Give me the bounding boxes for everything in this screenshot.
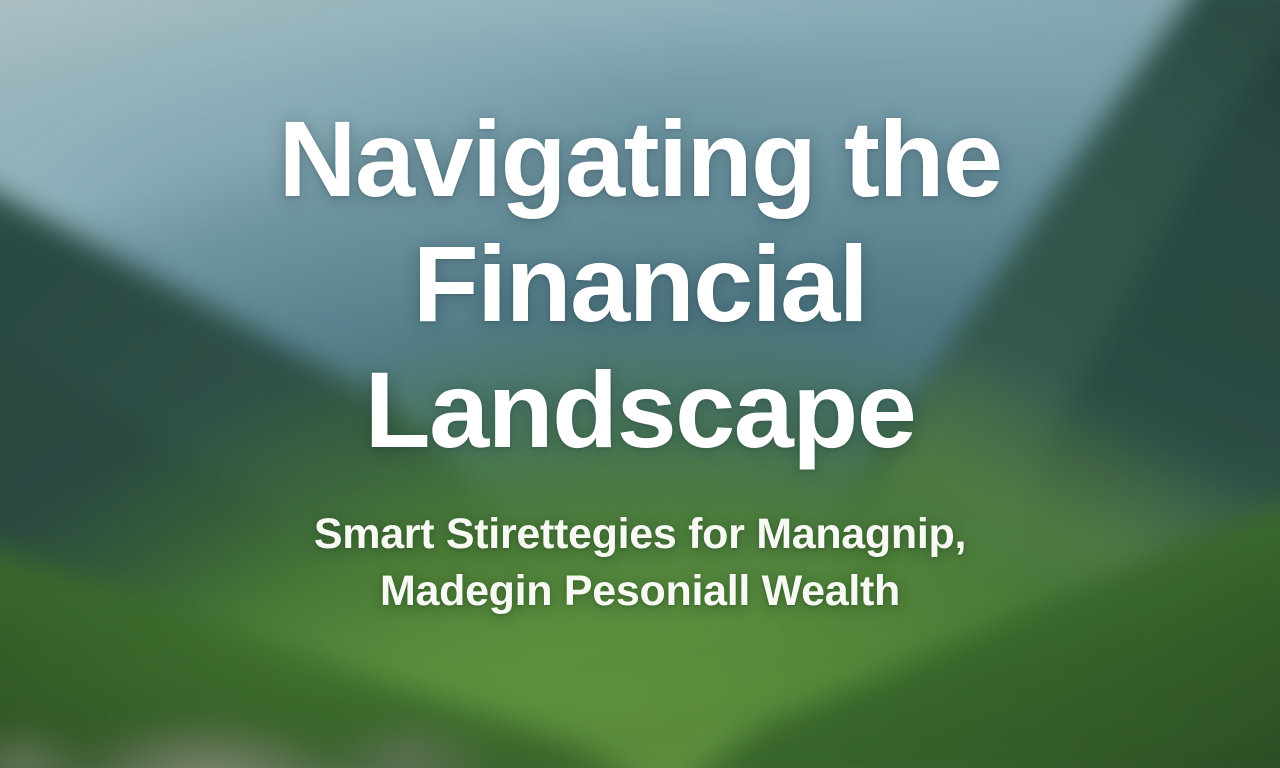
subtitle-line-1: Smart Stirettegies for Managnip, — [190, 506, 1090, 563]
subtitle-line-2: Madegin Pesoniall Wealth — [190, 563, 1090, 620]
slide-content: Navigating the Financial Landscape Smart… — [0, 0, 1280, 768]
title-line-2: Financial — [150, 221, 1130, 346]
title-line-1: Navigating the — [150, 96, 1130, 221]
title-slide: Navigating the Financial Landscape Smart… — [0, 0, 1280, 768]
slide-title: Navigating the Financial Landscape — [150, 96, 1130, 472]
slide-subtitle: Smart Stirettegies for Managnip, Madegin… — [190, 506, 1090, 620]
title-line-3: Landscape — [150, 347, 1130, 472]
